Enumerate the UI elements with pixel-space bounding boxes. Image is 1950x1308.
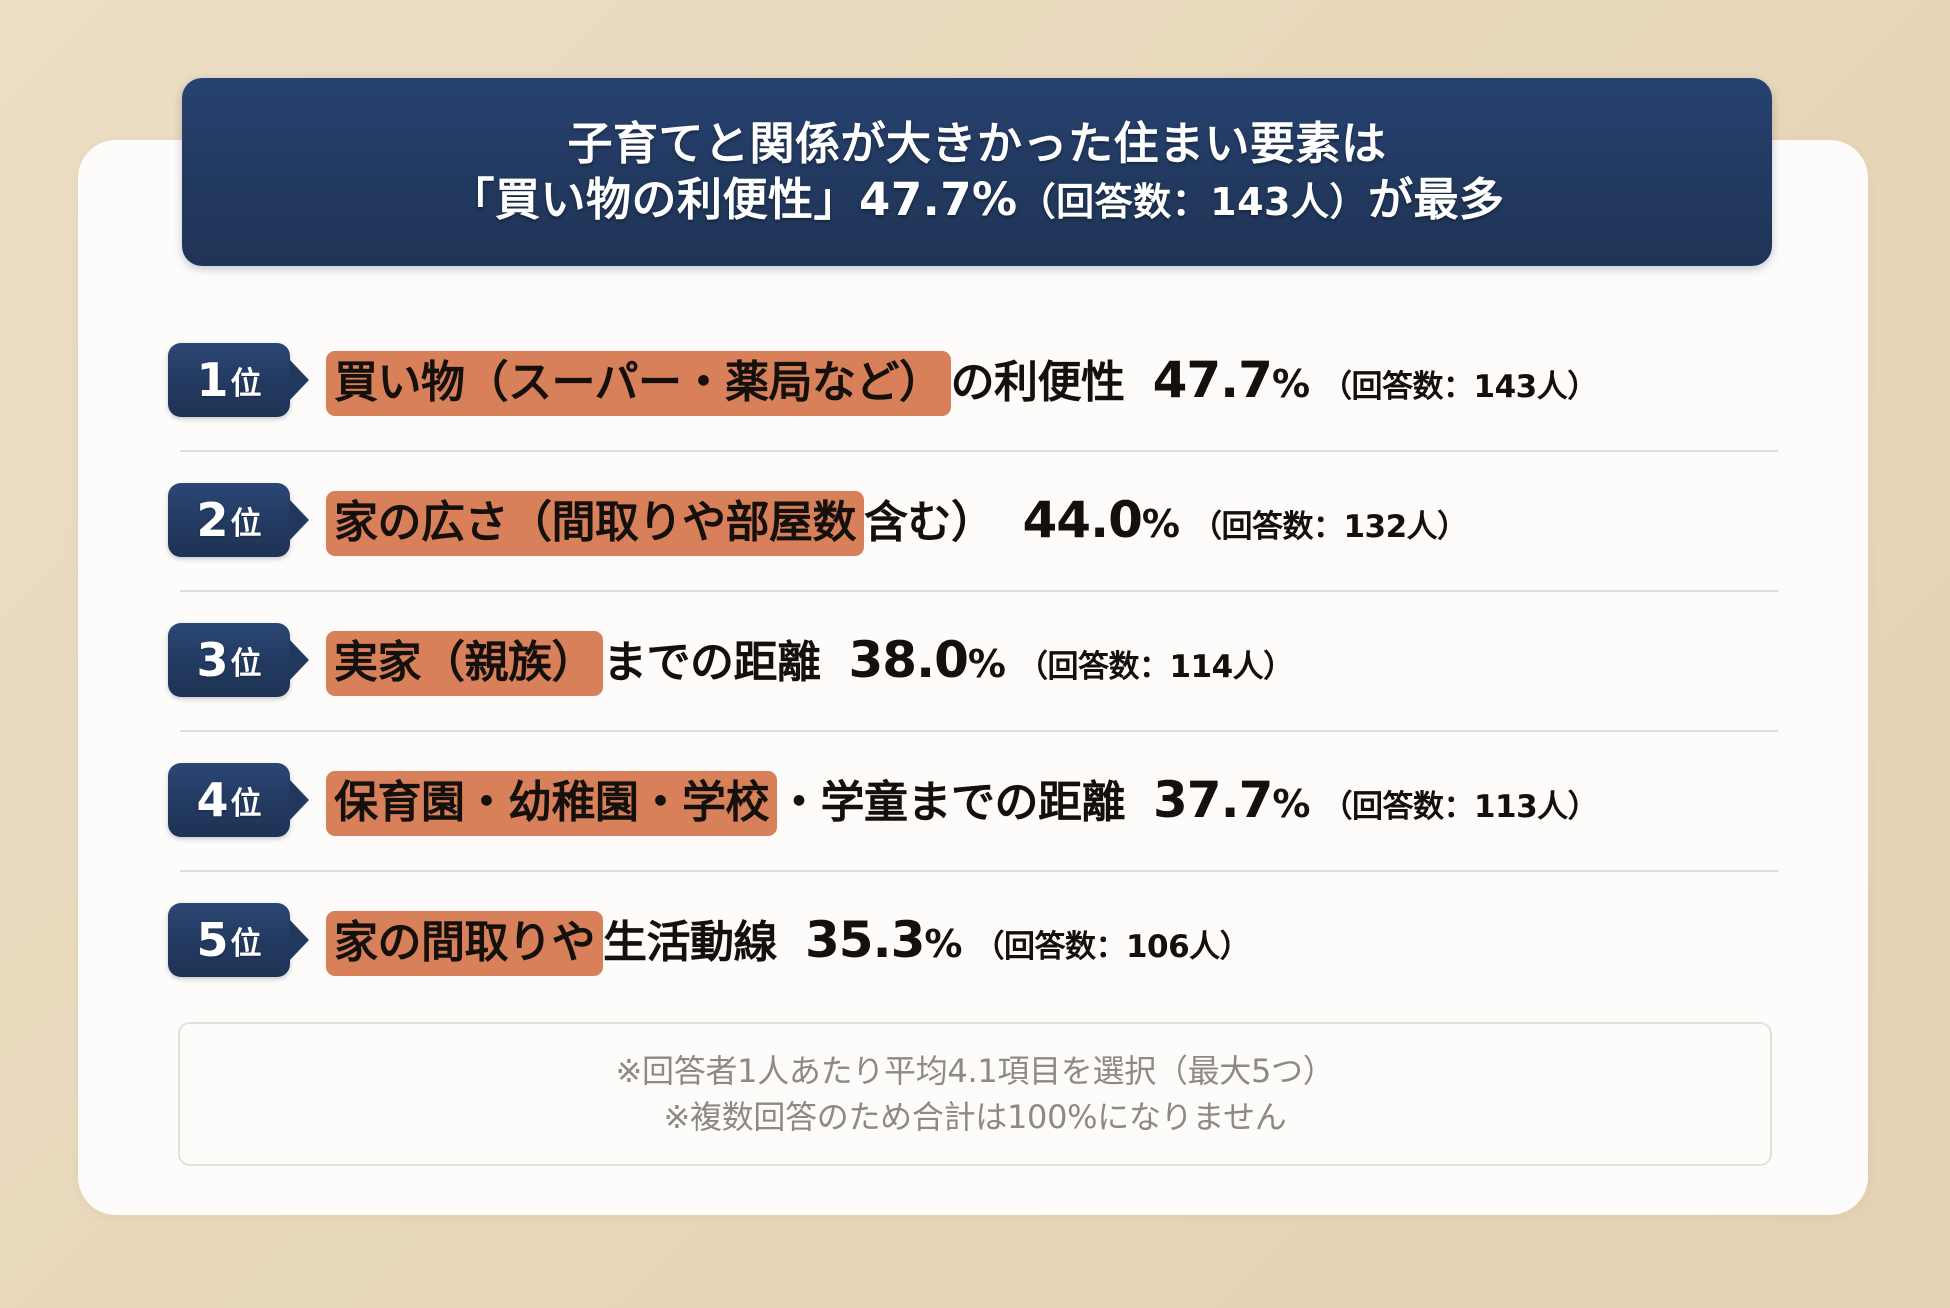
header-title-main: 「買い物の利便性」47.7% xyxy=(450,173,1018,226)
rank-response-count: （回答数：106人） xyxy=(973,921,1250,966)
footnote-box: ※回答者1人あたり平均4.1項目を選択（最大5つ） ※複数回答のため合計は100… xyxy=(178,1022,1772,1166)
rank-label: 買い物（スーパー・薬局など）の利便性 xyxy=(326,355,1125,410)
rank-badge-3: 3 位 xyxy=(168,623,290,697)
rank-content: 実家（親族）までの距離 38.0% （回答数：114人） xyxy=(326,631,1788,690)
rank-percent: 44.0% xyxy=(1023,491,1179,549)
rank-number: 3 xyxy=(196,637,228,683)
rank-percent-value: 38.0 xyxy=(849,631,968,689)
rank-suffix: 位 xyxy=(231,500,262,540)
rank-badge-4: 4 位 xyxy=(168,763,290,837)
rank-suffix: 位 xyxy=(231,360,262,400)
table-row: 4 位 保育園・幼稚園・学校・学童までの距離 37.7% （回答数：113人） xyxy=(168,730,1788,870)
header-title-count: （回答数：143人） xyxy=(1018,180,1368,224)
rank-content: 家の間取りや生活動線 35.3% （回答数：106人） xyxy=(326,911,1788,970)
rank-label-rest: 生活動線 xyxy=(603,917,777,968)
rank-response-count: （回答数：113人） xyxy=(1321,781,1598,826)
rank-label: 保育園・幼稚園・学校・学童までの距離 xyxy=(326,775,1125,830)
rank-suffix: 位 xyxy=(231,920,262,960)
rank-percent-value: 37.7 xyxy=(1153,771,1272,829)
header-title-line-2: 「買い物の利便性」47.7%（回答数：143人）が最多 xyxy=(450,175,1505,225)
rank-label: 実家（親族）までの距離 xyxy=(326,635,821,690)
rank-response-count: （回答数：114人） xyxy=(1017,641,1294,686)
rank-number: 5 xyxy=(196,917,228,963)
rank-percent: 47.7% xyxy=(1153,351,1309,409)
rank-label: 家の間取りや生活動線 xyxy=(326,915,777,970)
rank-label-highlight: 家の広さ（間取りや部屋数 xyxy=(326,491,864,556)
rank-percent-unit: % xyxy=(1142,502,1179,546)
rank-number: 4 xyxy=(196,777,228,823)
rank-suffix: 位 xyxy=(231,640,262,680)
rank-label: 家の広さ（間取りや部屋数含む） xyxy=(326,495,995,550)
rank-percent-value: 47.7 xyxy=(1153,351,1272,409)
rank-label-highlight: 保育園・幼稚園・学校 xyxy=(326,771,777,836)
table-row: 2 位 家の広さ（間取りや部屋数含む） 44.0% （回答数：132人） xyxy=(168,450,1788,590)
rank-percent-unit: % xyxy=(968,642,1005,686)
rank-badge-2: 2 位 xyxy=(168,483,290,557)
rank-label-rest: までの距離 xyxy=(603,637,821,688)
header-banner: 子育てと関係が大きかった住まい要素は 「買い物の利便性」47.7%（回答数：14… xyxy=(182,78,1772,266)
rank-label-rest: ・学童までの距離 xyxy=(777,777,1125,828)
rank-content: 買い物（スーパー・薬局など）の利便性 47.7% （回答数：143人） xyxy=(326,351,1788,410)
rank-badge-5: 5 位 xyxy=(168,903,290,977)
rank-percent: 35.3% xyxy=(805,911,961,969)
rank-label-rest: の利便性 xyxy=(951,357,1125,408)
header-title-tail: が最多 xyxy=(1368,173,1505,226)
rank-percent-unit: % xyxy=(1272,782,1309,826)
rank-content: 保育園・幼稚園・学校・学童までの距離 37.7% （回答数：113人） xyxy=(326,771,1788,830)
rank-response-count: （回答数：143人） xyxy=(1321,361,1598,406)
header-title-line-1: 子育てと関係が大きかった住まい要素は xyxy=(567,119,1386,169)
ranking-list: 1 位 買い物（スーパー・薬局など）の利便性 47.7% （回答数：143人） … xyxy=(168,310,1788,1010)
table-row: 5 位 家の間取りや生活動線 35.3% （回答数：106人） xyxy=(168,870,1788,1010)
rank-percent-unit: % xyxy=(924,922,961,966)
footnote-line-2: ※複数回答のため合計は100%になりません xyxy=(663,1098,1286,1136)
rank-content: 家の広さ（間取りや部屋数含む） 44.0% （回答数：132人） xyxy=(326,491,1788,550)
rank-response-count: （回答数：132人） xyxy=(1191,501,1468,546)
rank-percent-value: 44.0 xyxy=(1023,491,1142,549)
rank-label-highlight: 実家（親族） xyxy=(326,631,603,696)
table-row: 3 位 実家（親族）までの距離 38.0% （回答数：114人） xyxy=(168,590,1788,730)
rank-suffix: 位 xyxy=(231,780,262,820)
rank-label-highlight: 家の間取りや xyxy=(326,911,603,976)
rank-percent: 38.0% xyxy=(849,631,1005,689)
rank-percent-value: 35.3 xyxy=(805,911,924,969)
rank-label-highlight: 買い物（スーパー・薬局など） xyxy=(326,351,951,416)
rank-percent: 37.7% xyxy=(1153,771,1309,829)
rank-label-rest: 含む） xyxy=(864,497,995,548)
table-row: 1 位 買い物（スーパー・薬局など）の利便性 47.7% （回答数：143人） xyxy=(168,310,1788,450)
rank-badge-1: 1 位 xyxy=(168,343,290,417)
rank-number: 1 xyxy=(196,357,228,403)
page-background: 子育てと関係が大きかった住まい要素は 「買い物の利便性」47.7%（回答数：14… xyxy=(0,0,1950,1308)
rank-number: 2 xyxy=(196,497,228,543)
rank-percent-unit: % xyxy=(1272,362,1309,406)
footnote-line-1: ※回答者1人あたり平均4.1項目を選択（最大5つ） xyxy=(616,1052,1335,1090)
